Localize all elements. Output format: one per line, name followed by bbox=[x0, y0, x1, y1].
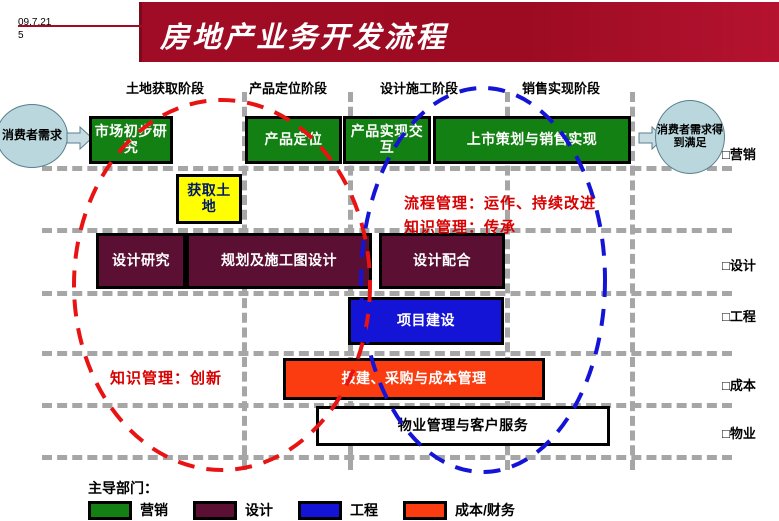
lane-divider-marketing bbox=[42, 166, 732, 171]
legend-title: 主导部门： bbox=[88, 478, 158, 498]
legend-label-engineering: 工程 bbox=[350, 500, 378, 520]
annotation-process-management: 流程管理：运作、持续改进 bbox=[404, 192, 596, 213]
lane-divider-property bbox=[42, 455, 732, 460]
process-box-label: 获取土地 bbox=[179, 183, 239, 214]
side-label-marketing: □营销 bbox=[722, 144, 756, 163]
process-box-planning-drawings[interactable]: 规划及施工图设计 bbox=[186, 233, 372, 289]
slide-date: 09.7.21 bbox=[18, 16, 51, 29]
start-bubble-label: 消费者需求 bbox=[2, 129, 62, 143]
process-box-property-service[interactable]: 物业管理与客户服务 bbox=[316, 406, 610, 446]
process-box-label: 上市策划与销售实现 bbox=[465, 132, 600, 148]
process-box-label: 设计配合 bbox=[411, 253, 473, 269]
end-bubble-label: 消费者需求得到满足 bbox=[656, 124, 724, 149]
stage-header-3: 设计施工阶段 bbox=[380, 78, 458, 97]
process-box-label: 项目建设 bbox=[395, 313, 457, 329]
process-box-project-construction[interactable]: 项目建设 bbox=[348, 297, 504, 345]
side-label-design: □设计 bbox=[722, 255, 756, 274]
legend-swatch-cost bbox=[403, 501, 447, 520]
legend-label-marketing: 营销 bbox=[140, 500, 168, 520]
side-label-cost: □成本 bbox=[722, 375, 756, 394]
process-box-launch-sales[interactable]: 上市策划与销售实现 bbox=[433, 116, 631, 164]
annotation-knowledge-inheritance: 知识管理：传承 bbox=[404, 216, 516, 237]
lane-divider-design bbox=[42, 291, 732, 296]
process-box-label: 报建、采购与成本管理 bbox=[340, 371, 489, 387]
legend-item-design: 设计 bbox=[193, 500, 273, 520]
legend-label-design: 设计 bbox=[245, 500, 273, 520]
process-box-label: 市场初步研究 bbox=[92, 124, 170, 155]
legend-item-engineering: 工程 bbox=[298, 500, 378, 520]
legend-swatch-design bbox=[193, 501, 237, 520]
end-bubble: 消费者需求得到满足 bbox=[655, 100, 725, 174]
legend-item-marketing: 营销 bbox=[88, 500, 168, 520]
side-label-engineering: □工程 bbox=[722, 306, 756, 325]
process-box-product-delivery[interactable]: 产品实现交互 bbox=[343, 116, 431, 164]
slide-page-number: 5 bbox=[18, 30, 24, 41]
stage-header-4: 销售实现阶段 bbox=[522, 78, 600, 97]
legend-swatch-marketing bbox=[88, 501, 132, 520]
process-box-label: 产品实现交互 bbox=[346, 124, 428, 155]
annotation-knowledge-innovation: 知识管理：创新 bbox=[110, 367, 222, 388]
title-banner-accent bbox=[139, 2, 142, 62]
process-box-label: 规划及施工图设计 bbox=[219, 253, 339, 269]
legend-swatch-engineering bbox=[298, 501, 342, 520]
process-box-label: 物业管理与客户服务 bbox=[396, 418, 531, 434]
stage-header-1: 土地获取阶段 bbox=[126, 78, 204, 97]
lane-divider-engineering bbox=[42, 351, 732, 356]
legend-item-cost: 成本/财务 bbox=[403, 500, 515, 520]
process-box-market-research[interactable]: 市场初步研究 bbox=[89, 116, 173, 164]
legend-label-cost: 成本/财务 bbox=[455, 500, 515, 520]
slide-canvas: 09.7.21 5 房地产业务开发流程 土地获取阶段 产品定位阶段 设计施工阶段… bbox=[0, 0, 779, 521]
stage-header-2: 产品定位阶段 bbox=[249, 78, 327, 97]
process-box-acquire-land[interactable]: 获取土地 bbox=[176, 174, 242, 224]
side-label-property: □物业 bbox=[722, 423, 756, 442]
start-bubble: 消费者需求 bbox=[0, 104, 68, 168]
process-box-cost-management[interactable]: 报建、采购与成本管理 bbox=[283, 358, 545, 400]
process-box-label: 产品定位 bbox=[263, 132, 325, 148]
process-box-design-coordination[interactable]: 设计配合 bbox=[379, 233, 505, 289]
process-box-product-positioning[interactable]: 产品定位 bbox=[245, 116, 342, 164]
page-title: 房地产业务开发流程 bbox=[160, 14, 448, 56]
process-box-label: 设计研究 bbox=[110, 253, 172, 269]
process-box-design-research[interactable]: 设计研究 bbox=[96, 233, 186, 289]
